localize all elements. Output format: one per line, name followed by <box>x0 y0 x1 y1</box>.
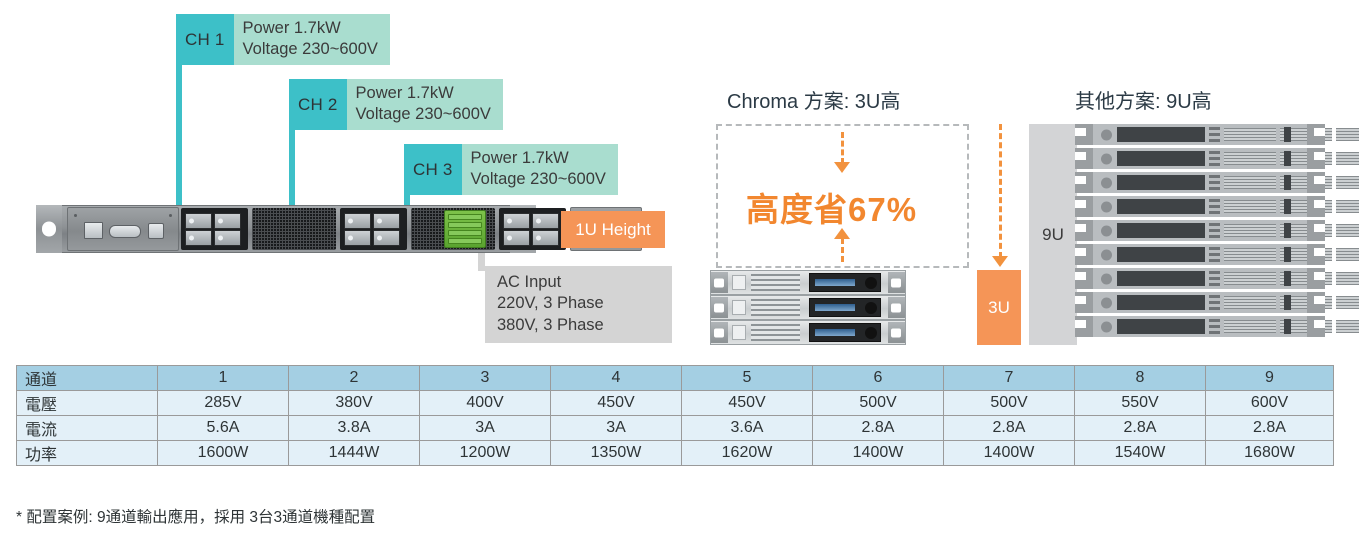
rack-unit-8-body <box>1093 292 1307 313</box>
table-cell: 2.8A <box>944 416 1075 441</box>
table-col-header: 9 <box>1206 366 1334 391</box>
table-row: 通道123456789 <box>17 366 1334 391</box>
rack-unit-4-leds <box>1209 199 1220 214</box>
chroma-unit-1-knob <box>865 277 877 289</box>
table-cell: 3A <box>420 416 551 441</box>
callout-ch2-connector <box>289 128 295 205</box>
table-col-header: 1 <box>158 366 289 391</box>
callout-ch3-tag: CH 3 <box>404 144 462 195</box>
callout-ch2-line2: Voltage 230~600V <box>356 104 491 125</box>
rack-unit-9-grill-c <box>1336 320 1359 333</box>
table-row-label: 電壓 <box>17 391 158 416</box>
chroma-solution-title: Chroma 方案: 3U高 <box>727 85 900 114</box>
rack-unit-2-left-ear <box>1075 148 1093 169</box>
rack-unit-3-left-ear <box>1075 172 1093 193</box>
rack-unit-5-grill-c <box>1336 224 1359 237</box>
vent-grill-1 <box>252 208 336 250</box>
rack-unit-5-left-ear <box>1075 220 1093 241</box>
rack-unit-2-body <box>1093 148 1307 169</box>
device-io-panel <box>67 207 179 251</box>
rack-unit-3-grill-a <box>1224 176 1276 189</box>
table-row: 電流5.6A3.8A3A3A3.6A2.8A2.8A2.8A2.8A <box>17 416 1334 441</box>
ac-input-line2: 220V, 3 Phase <box>497 293 662 314</box>
savings-arrow-down-shaft <box>841 132 844 164</box>
rack-unit-7-grill-a <box>1224 272 1276 285</box>
rack-unit-8-right-ear <box>1307 292 1325 313</box>
savings-arrow-down-head <box>834 162 850 173</box>
channel-spec-table: 通道123456789電壓285V380V400V450V450V500V500… <box>16 365 1334 466</box>
other-solution-title: 其他方案: 9U高 <box>1075 85 1212 114</box>
rack-unit-1-knob <box>1101 129 1112 140</box>
rack-unit-1-grill-c <box>1336 128 1359 141</box>
rack-unit-1-leds <box>1209 127 1220 142</box>
rack-unit-2-grill-a <box>1224 152 1276 165</box>
rack-unit-6-right-ear <box>1307 244 1325 265</box>
terminal-slot-2 <box>448 222 482 228</box>
rack-unit-8 <box>1075 292 1325 313</box>
table-col-header: 4 <box>551 366 682 391</box>
rack-unit-1-body <box>1093 124 1307 145</box>
ch3-jack-bottom-right <box>532 230 559 246</box>
chroma-unit-2-vents <box>751 299 800 316</box>
ac-input-line1: AC Input <box>497 272 662 293</box>
channel-1-output-block <box>181 208 248 250</box>
table-footnote: * 配置案例: 9通道輸出應用，採用 3台3通道機種配置 <box>16 505 375 527</box>
height-savings-text: 高度省67% <box>746 183 917 231</box>
rack-unit-7-leds <box>1209 271 1220 286</box>
terminal-slot-1 <box>448 214 482 220</box>
callout-ch3-line2: Voltage 230~600V <box>471 169 606 190</box>
rack-unit-6 <box>1075 244 1325 265</box>
badge-1u-height: 1U Height <box>561 211 665 248</box>
rack-unit-7-right-ear <box>1307 268 1325 289</box>
rack-unit-3-tab <box>1284 175 1291 190</box>
rack-unit-1-tab <box>1284 127 1291 142</box>
table-row-label: 通道 <box>17 366 158 391</box>
rack-unit-8-display <box>1117 295 1205 310</box>
table-cell: 500V <box>944 391 1075 416</box>
chroma-unit-1-left-ear <box>711 272 728 293</box>
rack-unit-4-left-ear <box>1075 196 1093 217</box>
rack-unit-7-grill-c <box>1336 272 1359 285</box>
rack-unit-3-leds <box>1209 175 1220 190</box>
ch2-jack-top-left <box>344 213 371 229</box>
table-cell: 600V <box>1206 391 1334 416</box>
ch3-jack-top-right <box>532 213 559 229</box>
ch1-jack-top-right <box>214 213 241 229</box>
terminal-slot-3 <box>448 230 482 236</box>
rack-unit-6-display <box>1117 247 1205 262</box>
ac-input-line3: 380V, 3 Phase <box>497 315 662 336</box>
ch3-jack-bottom-left <box>503 230 530 246</box>
rack-unit-4-grill-c <box>1336 200 1359 213</box>
rack-unit-1-right-ear <box>1307 124 1325 145</box>
three-u-bar: 3U <box>977 270 1021 345</box>
rack-unit-7-display <box>1117 271 1205 286</box>
rack-unit-6-grill-a <box>1224 248 1276 261</box>
rack-unit-9-knob <box>1101 321 1112 332</box>
rack-unit-5-leds <box>1209 223 1220 238</box>
device-left-ear <box>36 205 62 253</box>
rack-unit-5-right-ear <box>1307 220 1325 241</box>
chroma-unit-1-logo <box>732 275 746 290</box>
three-u-arrow-head <box>992 256 1008 267</box>
chroma-unit-3-left-ear <box>711 322 728 343</box>
chroma-unit-3 <box>710 320 906 345</box>
rack-unit-8-grill-a <box>1224 296 1276 309</box>
rack-unit-1-grill-a <box>1224 128 1276 141</box>
callout-ch1-line2: Voltage 230~600V <box>243 39 378 60</box>
table-cell: 2.8A <box>813 416 944 441</box>
ch1-jack-top-left <box>185 213 212 229</box>
rack-unit-6-left-ear <box>1075 244 1093 265</box>
chroma-3u-stack <box>710 270 906 345</box>
rack-unit-3-right-ear <box>1307 172 1325 193</box>
table-row: 電壓285V380V400V450V450V500V500V550V600V <box>17 391 1334 416</box>
table-cell: 1444W <box>289 441 420 466</box>
rack-unit-5-display <box>1117 223 1205 238</box>
table-col-header: 3 <box>420 366 551 391</box>
rack-unit-3-grill-c <box>1336 176 1359 189</box>
chroma-unit-1-vents <box>751 274 800 291</box>
savings-arrow-up-shaft <box>841 238 844 262</box>
rack-unit-9-right-ear <box>1307 316 1325 337</box>
rack-unit-8-grill-c <box>1336 296 1359 309</box>
callout-ch1-connector <box>176 63 182 205</box>
other-9u-stack <box>1075 124 1325 345</box>
chroma-unit-2 <box>710 295 906 320</box>
rack-unit-6-body <box>1093 244 1307 265</box>
rack-unit-2-tab <box>1284 151 1291 166</box>
table-cell: 2.8A <box>1206 416 1334 441</box>
callout-ch3-connector <box>404 193 410 205</box>
device-1u-rack-unit <box>36 205 536 253</box>
chroma-unit-3-vents <box>751 324 800 341</box>
rack-unit-1-display <box>1117 127 1205 142</box>
three-u-arrow-shaft <box>999 124 1002 258</box>
rack-unit-7-knob <box>1101 273 1112 284</box>
callout-ch2-tag: CH 2 <box>289 79 347 130</box>
table-col-header: 7 <box>944 366 1075 391</box>
table-row-label: 電流 <box>17 416 158 441</box>
table-row-label: 功率 <box>17 441 158 466</box>
nine-u-bar: 9U <box>1029 124 1077 345</box>
terminal-slot-4 <box>448 238 482 244</box>
rack-unit-2-right-ear <box>1307 148 1325 169</box>
callout-ch2: CH 2 Power 1.7kW Voltage 230~600V <box>289 79 503 130</box>
callout-ch1-body: Power 1.7kW Voltage 230~600V <box>234 14 390 65</box>
rack-unit-9 <box>1075 316 1325 337</box>
rack-unit-9-tab <box>1284 319 1291 334</box>
chroma-unit-2-left-ear <box>711 297 728 318</box>
table-cell: 1400W <box>813 441 944 466</box>
callout-ch3-body: Power 1.7kW Voltage 230~600V <box>462 144 618 195</box>
rack-unit-7-body <box>1093 268 1307 289</box>
table-cell: 1400W <box>944 441 1075 466</box>
table-cell: 1600W <box>158 441 289 466</box>
rack-unit-4-display <box>1117 199 1205 214</box>
rack-unit-6-grill-c <box>1336 248 1359 261</box>
table-col-header: 5 <box>682 366 813 391</box>
table-cell: 1680W <box>1206 441 1334 466</box>
rack-unit-5-grill-a <box>1224 224 1276 237</box>
table-cell: 2.8A <box>1075 416 1206 441</box>
callout-ch3-line1: Power 1.7kW <box>471 148 606 169</box>
chroma-unit-1-right-ear <box>888 272 905 293</box>
rack-unit-5-body <box>1093 220 1307 241</box>
rack-unit-3 <box>1075 172 1325 193</box>
rack-unit-3-display <box>1117 175 1205 190</box>
ch1-jack-bottom-right <box>214 230 241 246</box>
rack-unit-1 <box>1075 124 1325 145</box>
ch2-jack-bottom-left <box>344 230 371 246</box>
rack-unit-4-grill-a <box>1224 200 1276 213</box>
rack-unit-3-knob <box>1101 177 1112 188</box>
table-cell: 285V <box>158 391 289 416</box>
chroma-unit-2-knob <box>865 302 877 314</box>
rack-unit-4 <box>1075 196 1325 217</box>
table-cell: 400V <box>420 391 551 416</box>
callout-ch2-body: Power 1.7kW Voltage 230~600V <box>347 79 503 130</box>
ch1-jack-bottom-left <box>185 230 212 246</box>
rack-unit-5 <box>1075 220 1325 241</box>
table-cell: 1620W <box>682 441 813 466</box>
table-cell: 3.8A <box>289 416 420 441</box>
rack-unit-6-knob <box>1101 249 1112 260</box>
rack-unit-4-tab <box>1284 199 1291 214</box>
channel-2-output-block <box>340 208 407 250</box>
device-left-ear-hole <box>42 222 56 237</box>
rack-unit-2-knob <box>1101 153 1112 164</box>
rack-unit-9-display <box>1117 319 1205 334</box>
rack-unit-6-leds <box>1209 247 1220 262</box>
panel-screw-top-left <box>74 214 77 217</box>
ch2-jack-top-right <box>373 213 400 229</box>
ac-input-info-box: AC Input 220V, 3 Phase 380V, 3 Phase <box>485 266 672 343</box>
ch2-jack-bottom-right <box>373 230 400 246</box>
rack-unit-7 <box>1075 268 1325 289</box>
rack-unit-3-body <box>1093 172 1307 193</box>
table-cell: 500V <box>813 391 944 416</box>
rack-unit-8-left-ear <box>1075 292 1093 313</box>
chroma-unit-3-right-ear <box>888 322 905 343</box>
chroma-unit-2-logo <box>732 300 746 315</box>
table-cell: 1200W <box>420 441 551 466</box>
rack-unit-1-left-ear <box>1075 124 1093 145</box>
chroma-unit-3-logo <box>732 325 746 340</box>
table-cell: 5.6A <box>158 416 289 441</box>
rack-unit-9-grill-a <box>1224 320 1276 333</box>
lan-port-icon <box>84 222 103 239</box>
rack-unit-7-left-ear <box>1075 268 1093 289</box>
table-cell: 1350W <box>551 441 682 466</box>
table-col-header: 8 <box>1075 366 1206 391</box>
rack-unit-8-tab <box>1284 295 1291 310</box>
chroma-unit-2-right-ear <box>888 297 905 318</box>
rack-unit-6-tab <box>1284 247 1291 262</box>
table-cell: 450V <box>551 391 682 416</box>
table-cell: 3.6A <box>682 416 813 441</box>
rack-unit-2-leds <box>1209 151 1220 166</box>
rack-unit-4-knob <box>1101 201 1112 212</box>
rack-unit-8-knob <box>1101 297 1112 308</box>
table-col-header: 6 <box>813 366 944 391</box>
chroma-unit-1 <box>710 270 906 295</box>
rack-unit-7-tab <box>1284 271 1291 286</box>
rack-unit-2-grill-c <box>1336 152 1359 165</box>
rack-unit-5-knob <box>1101 225 1112 236</box>
ch3-jack-top-left <box>503 213 530 229</box>
rack-unit-2 <box>1075 148 1325 169</box>
callout-ch1: CH 1 Power 1.7kW Voltage 230~600V <box>176 14 390 65</box>
callout-ch3: CH 3 Power 1.7kW Voltage 230~600V <box>404 144 618 195</box>
table-cell: 1540W <box>1075 441 1206 466</box>
callout-ch1-tag: CH 1 <box>176 14 234 65</box>
chroma-unit-3-knob <box>865 327 877 339</box>
rack-unit-2-display <box>1117 151 1205 166</box>
rack-unit-5-tab <box>1284 223 1291 238</box>
rack-unit-4-body <box>1093 196 1307 217</box>
table-cell: 380V <box>289 391 420 416</box>
table-cell: 550V <box>1075 391 1206 416</box>
table-row: 功率1600W1444W1200W1350W1620W1400W1400W154… <box>17 441 1334 466</box>
panel-screw-top-right <box>169 214 172 217</box>
usb-port-icon <box>148 223 164 239</box>
ac-input-terminal-block <box>444 210 486 248</box>
table-col-header: 2 <box>289 366 420 391</box>
rack-unit-8-leds <box>1209 295 1220 310</box>
callout-ch2-line1: Power 1.7kW <box>356 83 491 104</box>
ac-input-connector-stub <box>478 253 485 271</box>
rack-unit-9-body <box>1093 316 1307 337</box>
callout-ch1-line1: Power 1.7kW <box>243 18 378 39</box>
rack-unit-4-right-ear <box>1307 196 1325 217</box>
rack-unit-9-left-ear <box>1075 316 1093 337</box>
serial-port-icon <box>109 225 141 238</box>
table-cell: 450V <box>682 391 813 416</box>
rack-unit-9-leds <box>1209 319 1220 334</box>
table-cell: 3A <box>551 416 682 441</box>
channel-3-output-block <box>499 208 566 250</box>
